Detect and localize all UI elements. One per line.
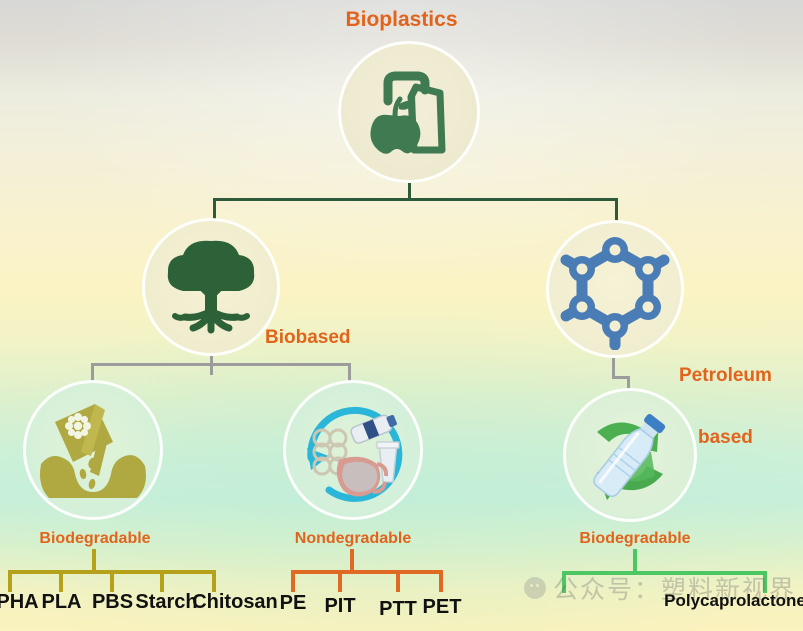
- branch-label-biobased: Biobased: [265, 328, 351, 349]
- group-node-petroleum-biodegradable[interactable]: [563, 388, 697, 522]
- group-node-nondegradable[interactable]: [283, 380, 423, 520]
- leaf-label-pbs: PBS: [89, 592, 136, 614]
- group-label-biodegradable-biobased: Biodegradable: [0, 530, 190, 547]
- connector-root-horizontal: [213, 198, 618, 201]
- connector-biobased-horizontal: [91, 363, 351, 366]
- bracket-biodegradable-stem: [92, 549, 96, 572]
- leaf-label-pbat: Polybutylene adipate terephthalate: [478, 592, 656, 631]
- bracket-nondegradable-drop-pe: [291, 570, 295, 592]
- branch-node-biobased[interactable]: [142, 218, 280, 356]
- seed-bag-pouring-icon: [33, 390, 153, 510]
- group-node-biobased-biodegradable[interactable]: [23, 380, 163, 520]
- bracket-biodegradable-drop-chitosan: [212, 570, 216, 592]
- bracket-biodegradable-drop-pla: [59, 570, 63, 592]
- leaf-label-pcl: Polycaprolactone: [660, 592, 803, 610]
- leaf-label-chitosan: Chitosan: [191, 592, 279, 614]
- plastic-waste-recycle-icon: [289, 386, 417, 514]
- tree-icon: [151, 227, 271, 347]
- group-label-biodegradable-petroleum: Biodegradable: [540, 530, 730, 547]
- bracket-petro-biodegradable-horizontal: [562, 571, 767, 575]
- benzene-ring-molecule-icon: [554, 228, 676, 350]
- branch-node-petroleum[interactable]: [546, 220, 684, 358]
- apple-and-shopping-bag-icon: [354, 57, 464, 167]
- bracket-nondegradable-drop-pet: [439, 570, 443, 592]
- bracket-petro-biodegradable-drop-pcl: [763, 571, 767, 593]
- leaf-label-pit: PIT: [317, 596, 363, 618]
- bracket-nondegradable-drop-ptt: [396, 570, 400, 592]
- leaf-label-pe: PE: [271, 593, 315, 615]
- connector-root-to-petroleum: [615, 198, 618, 222]
- leaf-label-pha: PHA: [0, 592, 40, 614]
- leaf-label-pla: PLA: [39, 592, 84, 614]
- plastic-bottle-recycle-icon: [571, 396, 689, 514]
- infographic-canvas: Bioplastics: [0, 0, 803, 631]
- bracket-biodegradable-drop-starch: [160, 570, 164, 592]
- diagram-title: Bioplastics: [0, 9, 803, 32]
- bracket-nondegradable-stem: [350, 549, 354, 572]
- branch-label-petroleum-line1: Petroleum: [679, 366, 772, 387]
- leaf-label-starch: Starch: [134, 592, 199, 614]
- root-node-bioplastics[interactable]: [338, 41, 480, 183]
- bracket-petro-biodegradable-stem: [633, 549, 637, 573]
- bracket-biodegradable-drop-pbs: [110, 570, 114, 592]
- bracket-nondegradable-drop-pit: [338, 570, 342, 592]
- bracket-petro-biodegradable-drop-pbat: [562, 571, 566, 593]
- group-label-nondegradable: Nondegradable: [263, 530, 443, 547]
- bracket-nondegradable-horizontal: [291, 570, 443, 574]
- leaf-label-pet: PET: [418, 597, 466, 619]
- leaf-label-ptt: PTT: [374, 599, 422, 621]
- bracket-biodegradable-drop-pha: [8, 570, 12, 592]
- connector-petroleum-stem: [612, 358, 615, 378]
